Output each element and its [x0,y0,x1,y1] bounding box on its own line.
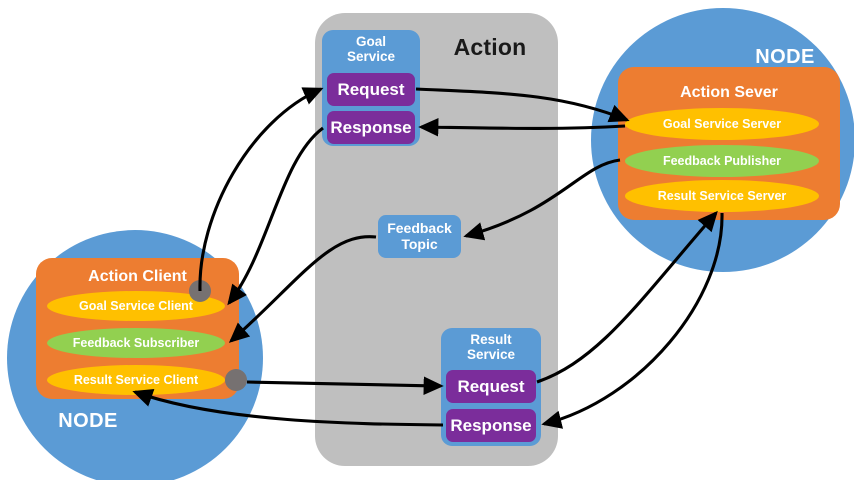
diagram-canvas: Action NODE Action Sever Goal Service Se… [0,0,854,480]
arrow-result-response-to-result-client [135,392,443,425]
arrow-result-request-to-result-server [537,213,716,382]
arrow-feedback-topic-to-subscriber [231,237,376,341]
arrow-goal-server-to-goal-response [421,126,625,128]
arrow-goal-request-to-goal-server [416,89,627,120]
arrow-goal-response-to-goal-client [229,128,323,303]
arrow-result-server-to-result-response [544,213,722,424]
arrow-result-client-to-result-request [247,382,441,386]
arrow-feedback-publisher-to-topic [466,160,620,236]
arrow-goal-client-to-goal-request [200,89,321,291]
arrows-layer [0,0,854,480]
